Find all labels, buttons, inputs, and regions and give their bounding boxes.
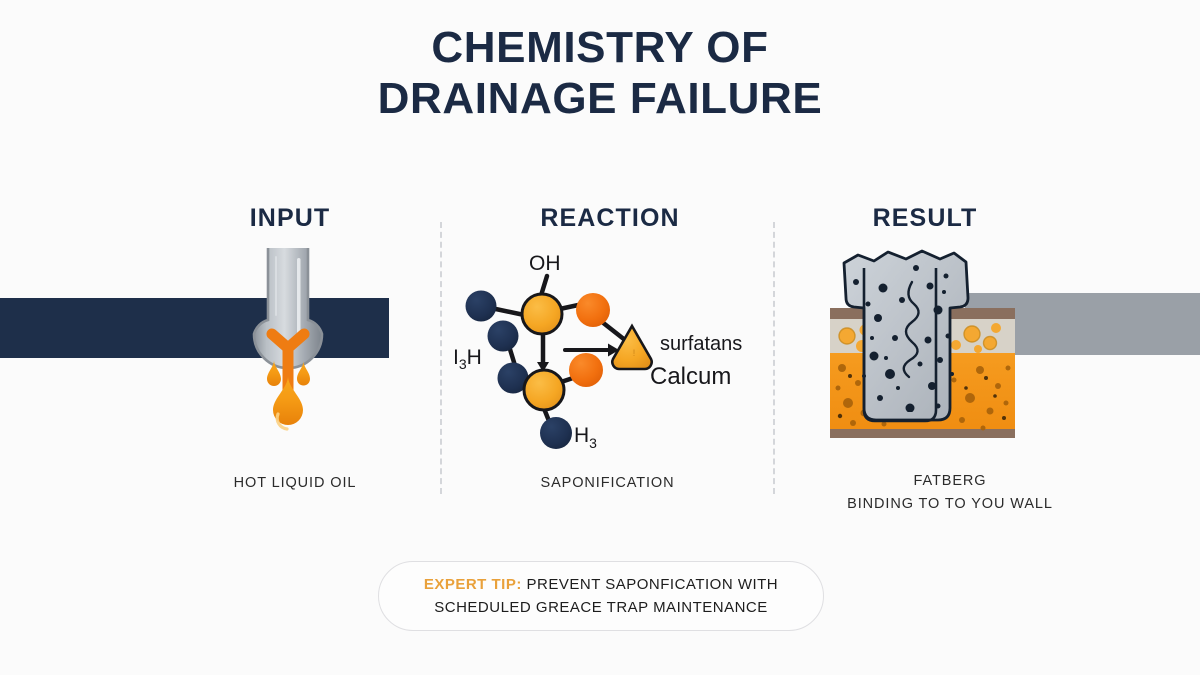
molecule-label-left-group: I3H [455, 346, 482, 372]
caption-result: FATBERG BINDING TO TO YOU WALL [810, 470, 1090, 516]
infographic-canvas: CHEMISTRY OF DRAINAGE FAILURE INPUT REAC… [0, 0, 1200, 675]
molecule-product-surfactants: surfatans [660, 333, 742, 355]
page-title: CHEMISTRY OF DRAINAGE FAILURE [0, 22, 1200, 124]
caption-result-line-1: FATBERG [914, 473, 987, 489]
column-divider-1 [440, 222, 442, 494]
expert-tip-line-1: PREVENT SAPONFICATION WITH [522, 576, 778, 593]
faucet-dripping-oil-icon [205, 248, 405, 453]
column-divider-2 [773, 222, 775, 494]
fatberg-cross-section-icon [820, 248, 1035, 453]
svg-text:!: ! [633, 348, 636, 358]
expert-tip-banner: EXPERT TIP: PREVENT SAPONFICATION WITH S… [378, 561, 824, 631]
expert-tip-label: EXPERT TIP: [424, 576, 522, 593]
expert-tip-text: EXPERT TIP: PREVENT SAPONFICATION WITH S… [401, 573, 801, 620]
molecule-label-hydroxyl: OH [529, 252, 561, 275]
molecule-diagram-icon: ! OH I3H H3 surfatans Calcum [455, 248, 765, 453]
molecule-label-bottom-group: H3 [574, 424, 597, 451]
caption-result-line-2: BINDING TO TO YOU WALL [810, 493, 1090, 516]
expert-tip-line-2: SCHEDULED GREACE TRAP MAINTENANCE [434, 599, 768, 616]
caption-reaction: SAPONIFICATION [465, 472, 750, 495]
molecule-product-calcium: Calcum [650, 363, 731, 390]
column-header-input: INPUT [160, 204, 420, 233]
column-header-reaction: REACTION [470, 204, 750, 233]
title-line-2: DRAINAGE FAILURE [0, 73, 1200, 124]
column-header-result: RESULT [810, 204, 1040, 233]
title-line-1: CHEMISTRY OF [431, 23, 768, 72]
caption-input: HOT LIQUID OIL [160, 472, 430, 495]
